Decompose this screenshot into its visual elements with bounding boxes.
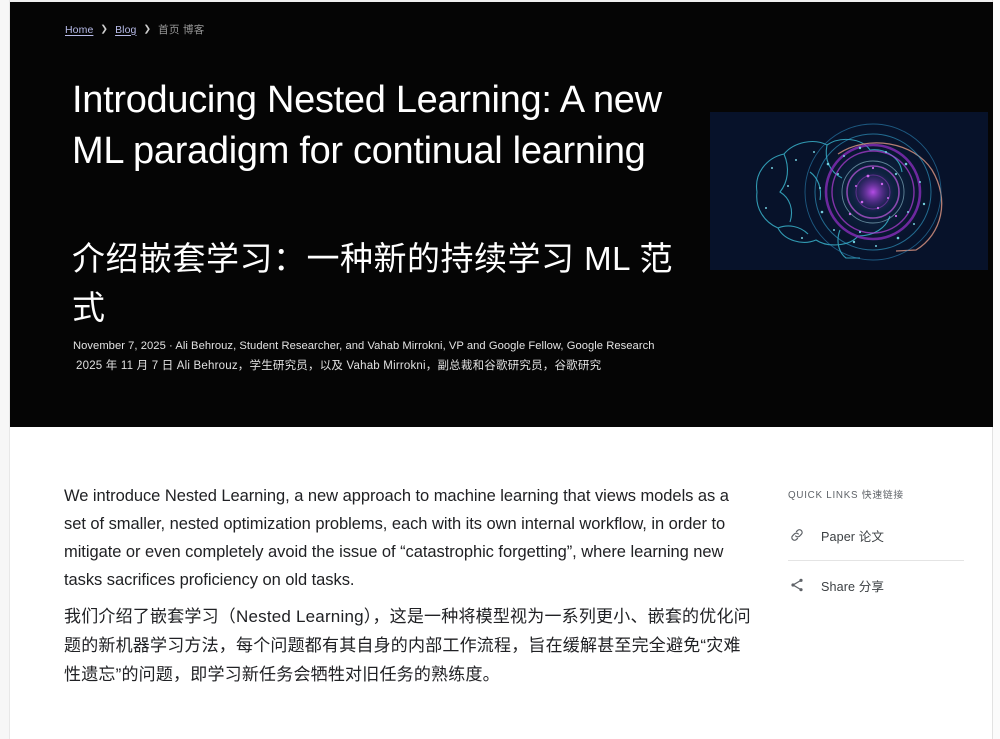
hero-section: Home ❯ Blog ❯ 首页 博客 Introducing Nested L… [10, 2, 993, 427]
article-paragraph-chinese: 我们介绍了嵌套学习（Nested Learning），这是一种将模型视为一系列更… [64, 602, 754, 689]
breadcrumb-item-blog[interactable]: Blog [115, 24, 136, 36]
breadcrumb-item-home[interactable]: Home [65, 24, 93, 36]
page-right-edge [992, 0, 1000, 739]
byline: November 7, 2025 · Ali Behrouz, Student … [73, 338, 693, 355]
link-icon [788, 527, 805, 544]
page-root: Home ❯ Blog ❯ 首页 博客 Introducing Nested L… [0, 0, 1000, 739]
breadcrumb: Home ❯ Blog ❯ 首页 博客 [65, 22, 205, 37]
article-text-column: We introduce Nested Learning, a new appr… [64, 482, 754, 689]
quick-link-paper-label: Paper 论文 [821, 526, 884, 545]
quick-link-share-label: Share 分享 [821, 576, 884, 595]
quick-links-heading: QUICK LINKS 快速链接 [788, 487, 968, 501]
chevron-right-icon: ❯ [100, 24, 108, 35]
article-section: We introduce Nested Learning, a new appr… [11, 427, 990, 739]
page-left-edge [0, 0, 10, 739]
page-title: Introducing Nested Learning: A new ML pa… [72, 75, 692, 177]
article-paragraph-english: We introduce Nested Learning, a new appr… [64, 482, 754, 594]
page-title-chinese: 介绍嵌套学习：一种新的持续学习 ML 范式 [72, 234, 697, 332]
chevron-right-icon: ❯ [144, 24, 152, 35]
share-icon [788, 577, 805, 594]
quick-links-panel: QUICK LINKS 快速链接 Paper 论文 [788, 487, 968, 597]
byline-chinese: 2025 年 11 月 7 日 Ali Behrouz，学生研究员，以及 Vah… [76, 357, 696, 375]
quick-link-paper[interactable]: Paper 论文 [788, 523, 968, 547]
breadcrumb-item-chinese: 首页 博客 [158, 22, 204, 37]
quick-link-share[interactable]: Share 分享 [788, 573, 968, 597]
neural-brain-illustration [710, 112, 988, 270]
quick-links-divider [788, 560, 964, 561]
